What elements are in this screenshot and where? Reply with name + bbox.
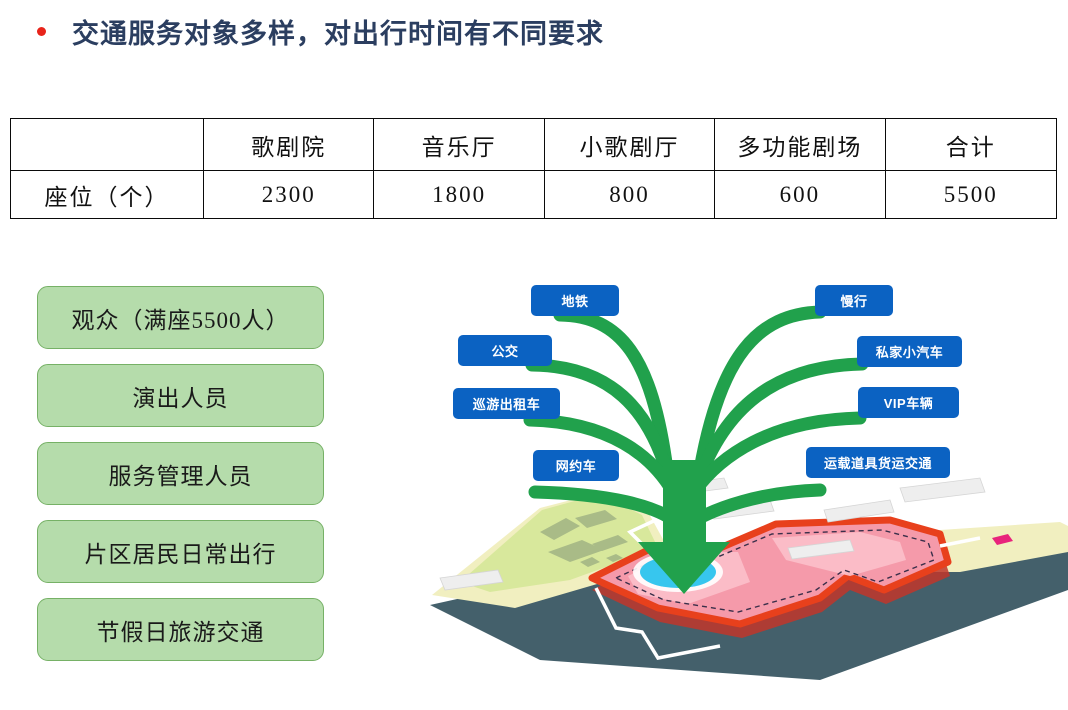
transport-mode-label: 地铁 [561,291,588,310]
user-group-item-audience[interactable]: 观众（满座5500人） [37,286,324,349]
user-group-label: 节假日旅游交通 [97,613,265,647]
user-group-label: 观众（满座5500人） [72,301,290,335]
table-header-cell-multifunction-theatre: 多功能剧场 [715,119,885,171]
site-map-illustration [430,478,1068,680]
transport-mode-cruising-taxi[interactable]: 巡游出租车 [453,388,560,419]
diagram-artwork [420,260,1068,710]
table-header-cell-opera-house: 歌剧院 [204,119,374,171]
transport-convergence-diagram: 地铁 公交 巡游出租车 网约车 慢行 私家小汽车 VIP车辆 运载道具货运交通 [420,260,1068,710]
user-group-item-residents[interactable]: 片区居民日常出行 [37,520,324,583]
transport-mode-metro[interactable]: 地铁 [531,285,619,316]
transport-mode-label: 公交 [491,341,518,360]
table-header-cell-total: 合计 [885,119,1056,171]
table-header-cell-corner [11,119,204,171]
user-group-item-holiday-tourism[interactable]: 节假日旅游交通 [37,598,324,661]
user-group-label: 片区居民日常出行 [85,535,277,569]
transport-mode-freight[interactable]: 运载道具货运交通 [806,447,950,478]
bullet-dot-icon [37,27,46,36]
table-row-label-seats: 座位（个） [11,171,204,219]
page-title: 交通服务对象多样，对出行时间有不同要求 [0,8,1068,54]
transport-mode-vip-vehicle[interactable]: VIP车辆 [858,387,959,418]
transport-mode-label: 慢行 [840,291,867,310]
transport-mode-label: VIP车辆 [884,393,933,412]
transport-mode-private-car[interactable]: 私家小汽车 [857,336,962,367]
table-cell-seats-concert-hall: 1800 [374,171,544,219]
table-cell-seats-multifunction-theatre: 600 [715,171,885,219]
table-header-cell-concert-hall: 音乐厅 [374,119,544,171]
transport-mode-label: 运载道具货运交通 [824,453,932,472]
transport-mode-label: 私家小汽车 [876,342,944,361]
table-row: 座位（个） 2300 1800 800 600 5500 [11,171,1057,219]
page-title-text: 交通服务对象多样，对出行时间有不同要求 [72,12,604,51]
transport-mode-label: 巡游出租车 [473,394,541,413]
table-cell-seats-small-opera-hall: 800 [544,171,714,219]
transport-mode-bus[interactable]: 公交 [458,335,552,366]
table-cell-seats-total: 5500 [885,171,1056,219]
transport-mode-label: 网约车 [556,456,597,475]
transport-mode-ride-hailing[interactable]: 网约车 [533,450,619,481]
table-cell-seats-opera-house: 2300 [204,171,374,219]
transport-mode-slow-traffic[interactable]: 慢行 [815,285,893,316]
seating-capacity-table: 歌剧院 音乐厅 小歌剧厅 多功能剧场 合计 座位（个） 2300 1800 80… [10,118,1057,219]
user-group-item-service-staff[interactable]: 服务管理人员 [37,442,324,505]
user-group-label: 演出人员 [133,379,229,413]
user-group-label: 服务管理人员 [109,457,253,491]
table-header-row: 歌剧院 音乐厅 小歌剧厅 多功能剧场 合计 [11,119,1057,171]
user-group-list: 观众（满座5500人） 演出人员 服务管理人员 片区居民日常出行 节假日旅游交通 [37,286,324,676]
table-header-cell-small-opera-hall: 小歌剧厅 [544,119,714,171]
user-group-item-performers[interactable]: 演出人员 [37,364,324,427]
